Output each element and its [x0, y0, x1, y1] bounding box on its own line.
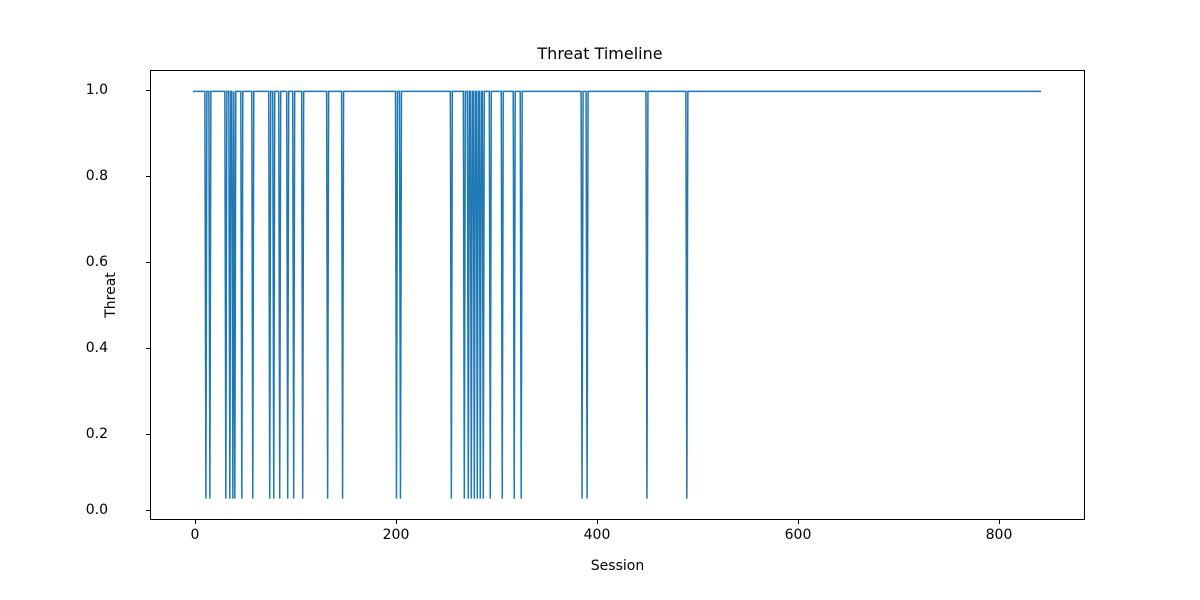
- xtick-label-400: 400: [584, 527, 611, 543]
- ytick-mark-1.0: [146, 90, 150, 91]
- xtick-mark-400: [597, 520, 598, 524]
- xtick-mark-0: [195, 520, 196, 524]
- xtick-label-0: 0: [191, 527, 200, 543]
- xtick-label-800: 800: [986, 527, 1013, 543]
- xtick-mark-800: [999, 520, 1000, 524]
- xtick-label-200: 200: [383, 527, 410, 543]
- y-axis-label: Threat: [104, 70, 118, 520]
- ytick-mark-0.8: [146, 176, 150, 177]
- ytick-mark-0.6: [146, 262, 150, 263]
- ytick-mark-0.0: [146, 510, 150, 511]
- ytick-mark-0.4: [146, 348, 150, 349]
- x-axis-label: Session: [150, 558, 1085, 574]
- xtick-label-600: 600: [785, 527, 812, 543]
- threat-line: [193, 91, 1041, 498]
- xtick-mark-200: [396, 520, 397, 524]
- threat-timeline-plot: [151, 71, 1084, 519]
- xtick-mark-600: [798, 520, 799, 524]
- chart-title: Threat Timeline: [0, 44, 1200, 64]
- matplotlib-figure: Threat Timeline 1.0 0.8 0.6 0.4 0.2 0.0 …: [0, 0, 1200, 600]
- ytick-mark-0.2: [146, 434, 150, 435]
- plot-axes: [150, 70, 1085, 520]
